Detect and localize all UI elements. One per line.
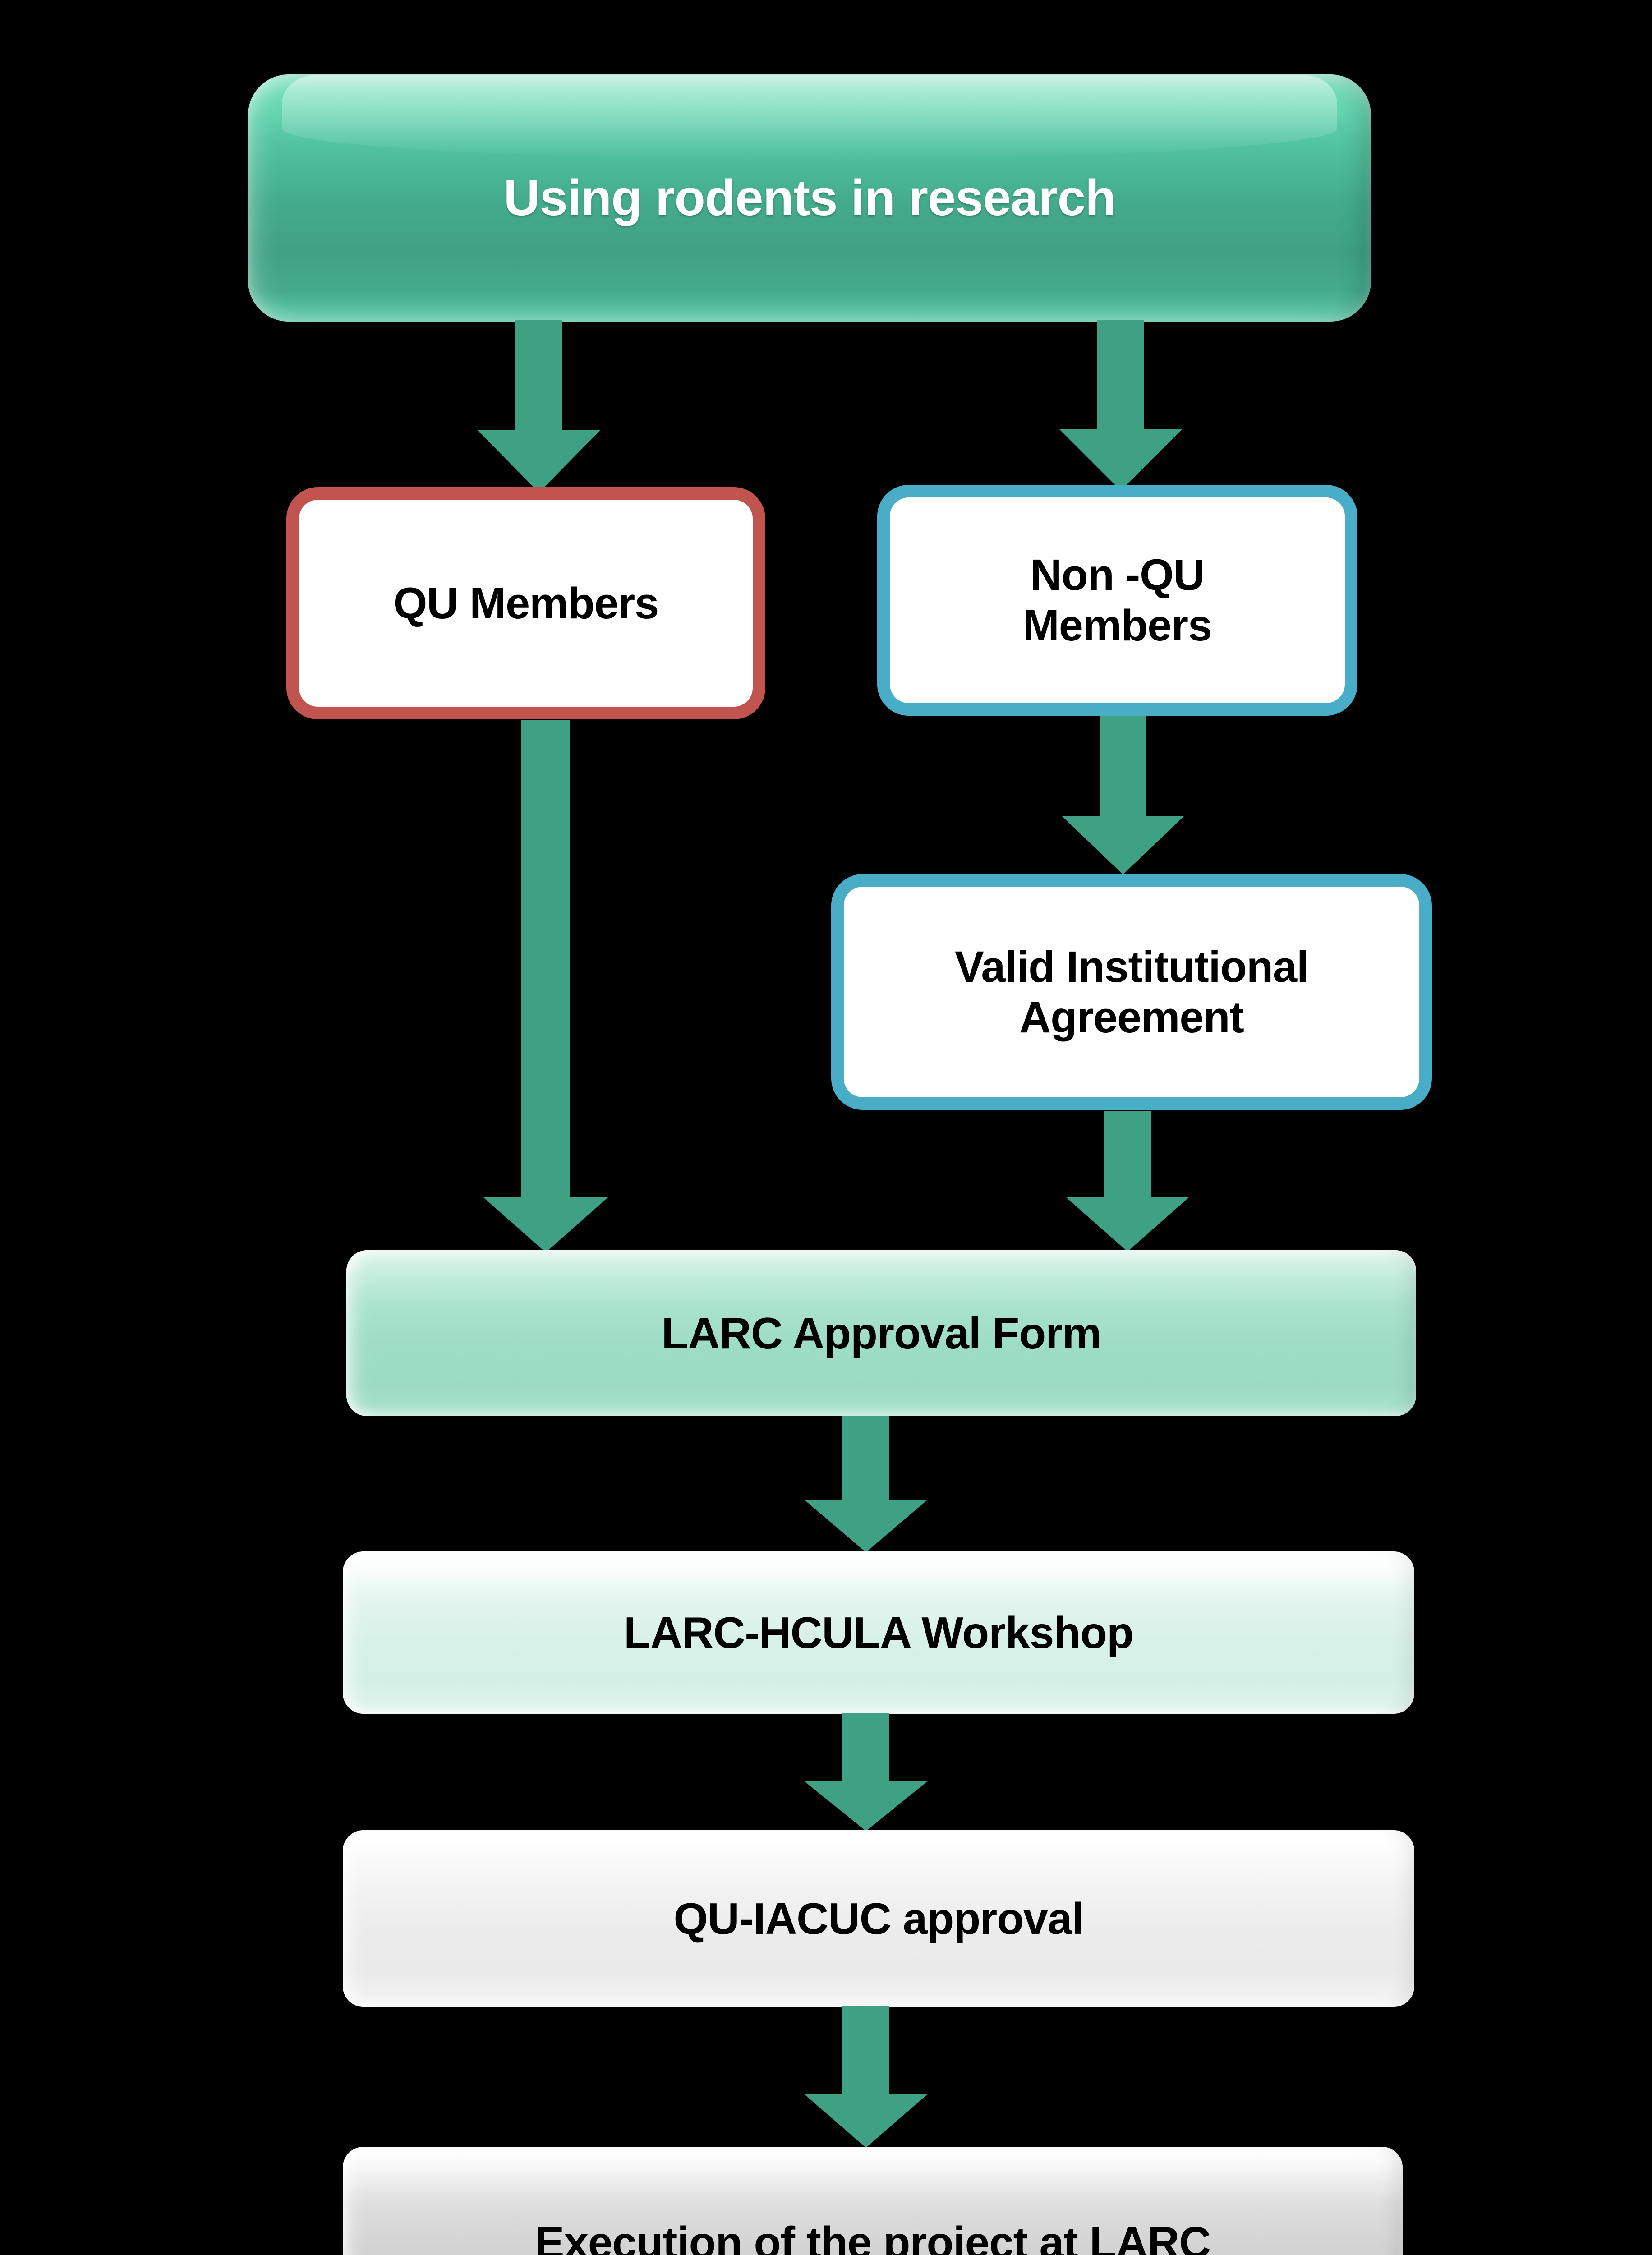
flowchart-canvas: Using rodents in research QU Members Non… — [0, 0, 1652, 2255]
node-larc-hcula-workshop[interactable]: LARC-HCULA Workshop — [343, 1551, 1414, 1714]
node-label-wrapper: Non -QU Members — [1023, 550, 1212, 650]
node-label: QU-IACUC approval — [674, 1893, 1084, 1944]
node-label-line-2: Agreement — [1019, 993, 1244, 1042]
arrow-larc-approval-form-to-workshop — [798, 1416, 934, 1552]
node-execution-of-the-project-at-larc[interactable]: Execution of the project at LARC — [343, 2147, 1403, 2255]
node-qu-iacuc-approval[interactable]: QU-IACUC approval — [343, 1830, 1414, 2007]
arrow-root-to-qu-members — [469, 320, 609, 492]
node-non-qu-members[interactable]: Non -QU Members — [877, 485, 1357, 716]
node-using-rodents-in-research[interactable]: Using rodents in research — [248, 74, 1371, 322]
node-valid-institutional-agreement[interactable]: Valid Institutional Agreement — [831, 874, 1432, 1110]
node-label-line-2: Members — [1023, 601, 1212, 650]
node-label: Using rodents in research — [504, 169, 1116, 227]
arrow-workshop-to-qu-iacuc-approval — [798, 1713, 934, 1831]
node-label-line-1: Non -QU — [1030, 550, 1204, 599]
arrow-agreement-to-larc-approval-form — [1060, 1111, 1195, 1252]
arrow-qu-members-to-larc-approval-form — [478, 720, 613, 1252]
node-label: Execution of the project at LARC — [535, 2217, 1210, 2255]
node-larc-approval-form[interactable]: LARC Approval Form — [346, 1250, 1416, 1416]
node-label: LARC Approval Form — [662, 1308, 1101, 1359]
arrow-qu-iacuc-approval-to-execution — [798, 2006, 934, 2148]
node-label-line-1: Valid Institutional — [955, 942, 1308, 991]
node-label: QU Members — [393, 578, 658, 629]
node-label: LARC-HCULA Workshop — [624, 1607, 1133, 1658]
node-label-wrapper: Valid Institutional Agreement — [955, 942, 1308, 1042]
arrow-non-qu-to-agreement — [1053, 716, 1193, 874]
arrow-root-to-non-qu-members — [1051, 320, 1191, 491]
node-qu-members[interactable]: QU Members — [286, 487, 765, 719]
